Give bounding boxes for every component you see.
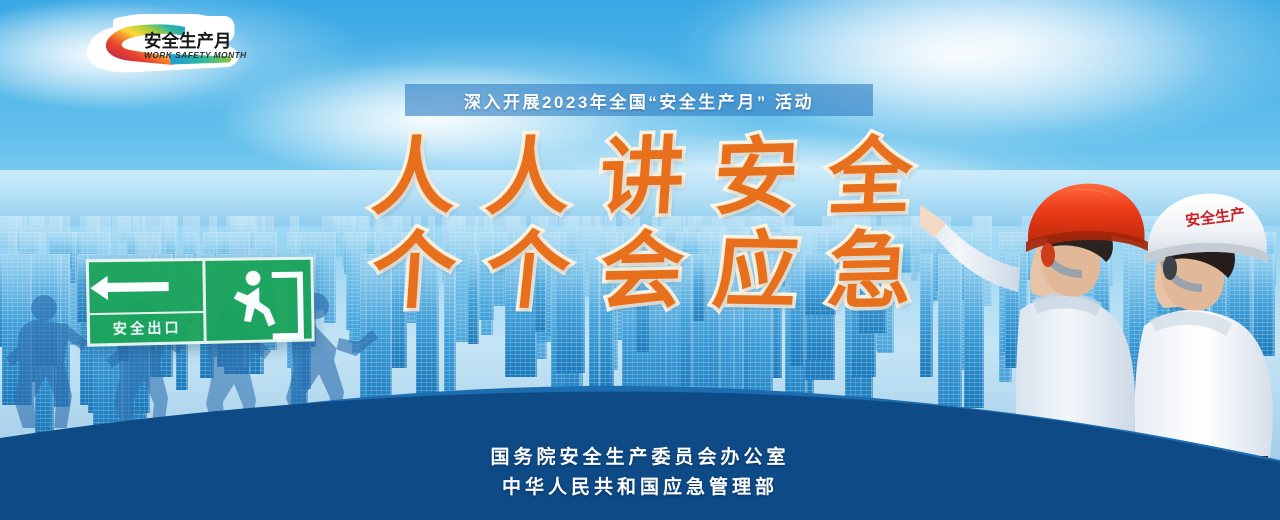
authority-line-1: 国务院安全生产委员会办公室 [0,443,1280,472]
logo-chinese-text: 安全生产月 [144,31,232,52]
slogan-char: 全 [825,129,915,225]
slogan-line-1: 人人讲安全 [372,130,912,224]
campaign-subtitle-bar: 深入开展2023年全国“安全生产月” 活动 [405,84,873,116]
main-slogan: 人人讲安全 个个会应急 [372,130,912,318]
exit-door-frame [272,272,304,340]
slogan-char: 应 [709,223,803,319]
work-safety-month-logo: 安全生产月 WORK SAFETY MONTH [78,14,248,80]
slogan-char: 个 [369,223,459,319]
exit-sign-left-panel: 安全出口 [89,261,207,344]
logo-english-text: WORK SAFETY MONTH [144,51,247,60]
slogan-char: 安 [711,129,801,225]
authority-line-2: 中华人民共和国应急管理部 [0,473,1280,502]
slogan-char: 讲 [597,129,687,225]
issuing-authorities: 国务院安全生产委员会办公室 中华人民共和国应急管理部 [0,443,1280,502]
slogan-line-2: 个个会应急 [372,224,912,318]
left-arrow-icon [106,282,169,292]
campaign-subtitle-text: 深入开展2023年全国“安全生产月” 活动 [464,88,814,113]
emergency-exit-sign: 安全出口 [86,257,315,347]
slogan-char: 人 [483,129,573,225]
exit-arrow-panel [89,261,204,315]
exit-sign-right-panel [205,260,311,341]
slogan-char: 会 [597,223,687,319]
exit-sign-label: 安全出口 [90,313,204,344]
slogan-char: 个 [481,223,575,319]
slogan-char: 人 [369,129,459,225]
work-safety-month-banner: 安全生产月 WORK SAFETY MONTH 深入开展2023年全国“安全生产… [0,0,1280,520]
slogan-char: 急 [825,223,915,319]
